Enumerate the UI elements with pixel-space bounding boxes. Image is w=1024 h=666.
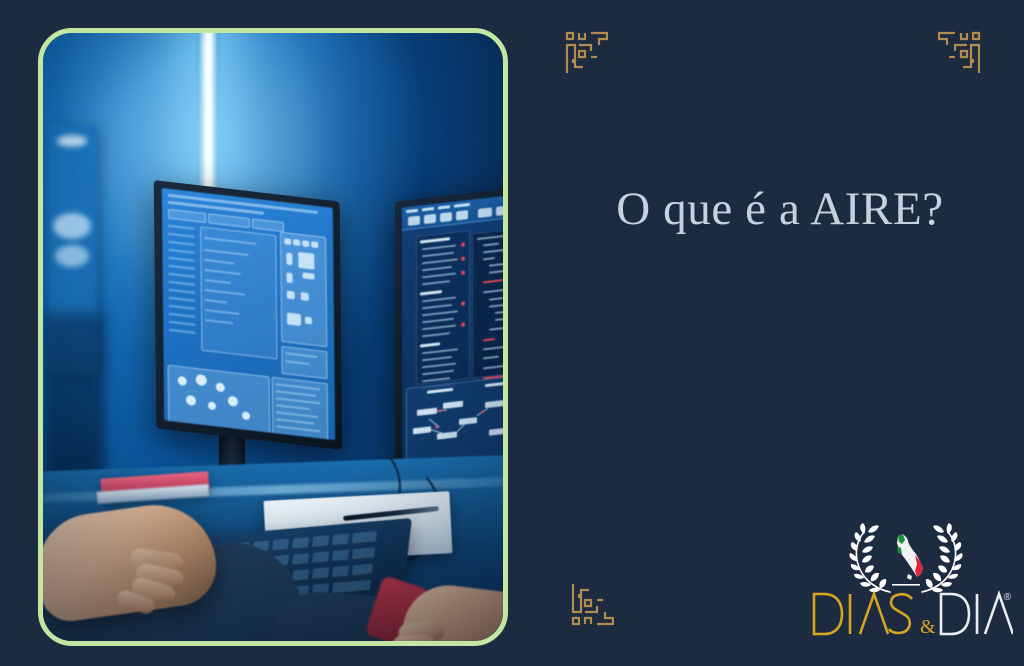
laurel-wreath-icon <box>846 522 966 596</box>
poster-canvas: O que é a AIRE? <box>0 0 1024 666</box>
photo-image <box>43 33 503 641</box>
wall-panel-highlight <box>57 135 87 147</box>
left-monitor <box>154 180 343 450</box>
left-monitor-screen <box>162 188 335 440</box>
wall-panel-highlight <box>55 245 89 267</box>
right-monitor <box>395 185 503 484</box>
corner-ornament-top-left-icon <box>564 30 608 74</box>
corner-ornament-bottom-left-icon <box>570 583 614 627</box>
ide-toolbar <box>402 192 503 230</box>
ide-code-pane <box>472 227 503 379</box>
right-monitor-screen <box>402 192 503 474</box>
photo-frame <box>38 28 508 646</box>
page-title: O que é a AIRE? <box>560 182 1000 236</box>
ide-file-tree <box>416 230 470 385</box>
italy-map-icon <box>897 534 923 580</box>
corner-ornament-top-right-icon <box>938 30 982 74</box>
brand-logo: & ® <box>808 522 1013 642</box>
registered-trademark-symbol: ® <box>1004 592 1011 603</box>
brand-ampersand: & <box>920 616 936 638</box>
wall-panel-highlight <box>53 213 91 239</box>
brand-wordmark: & <box>808 588 1013 640</box>
